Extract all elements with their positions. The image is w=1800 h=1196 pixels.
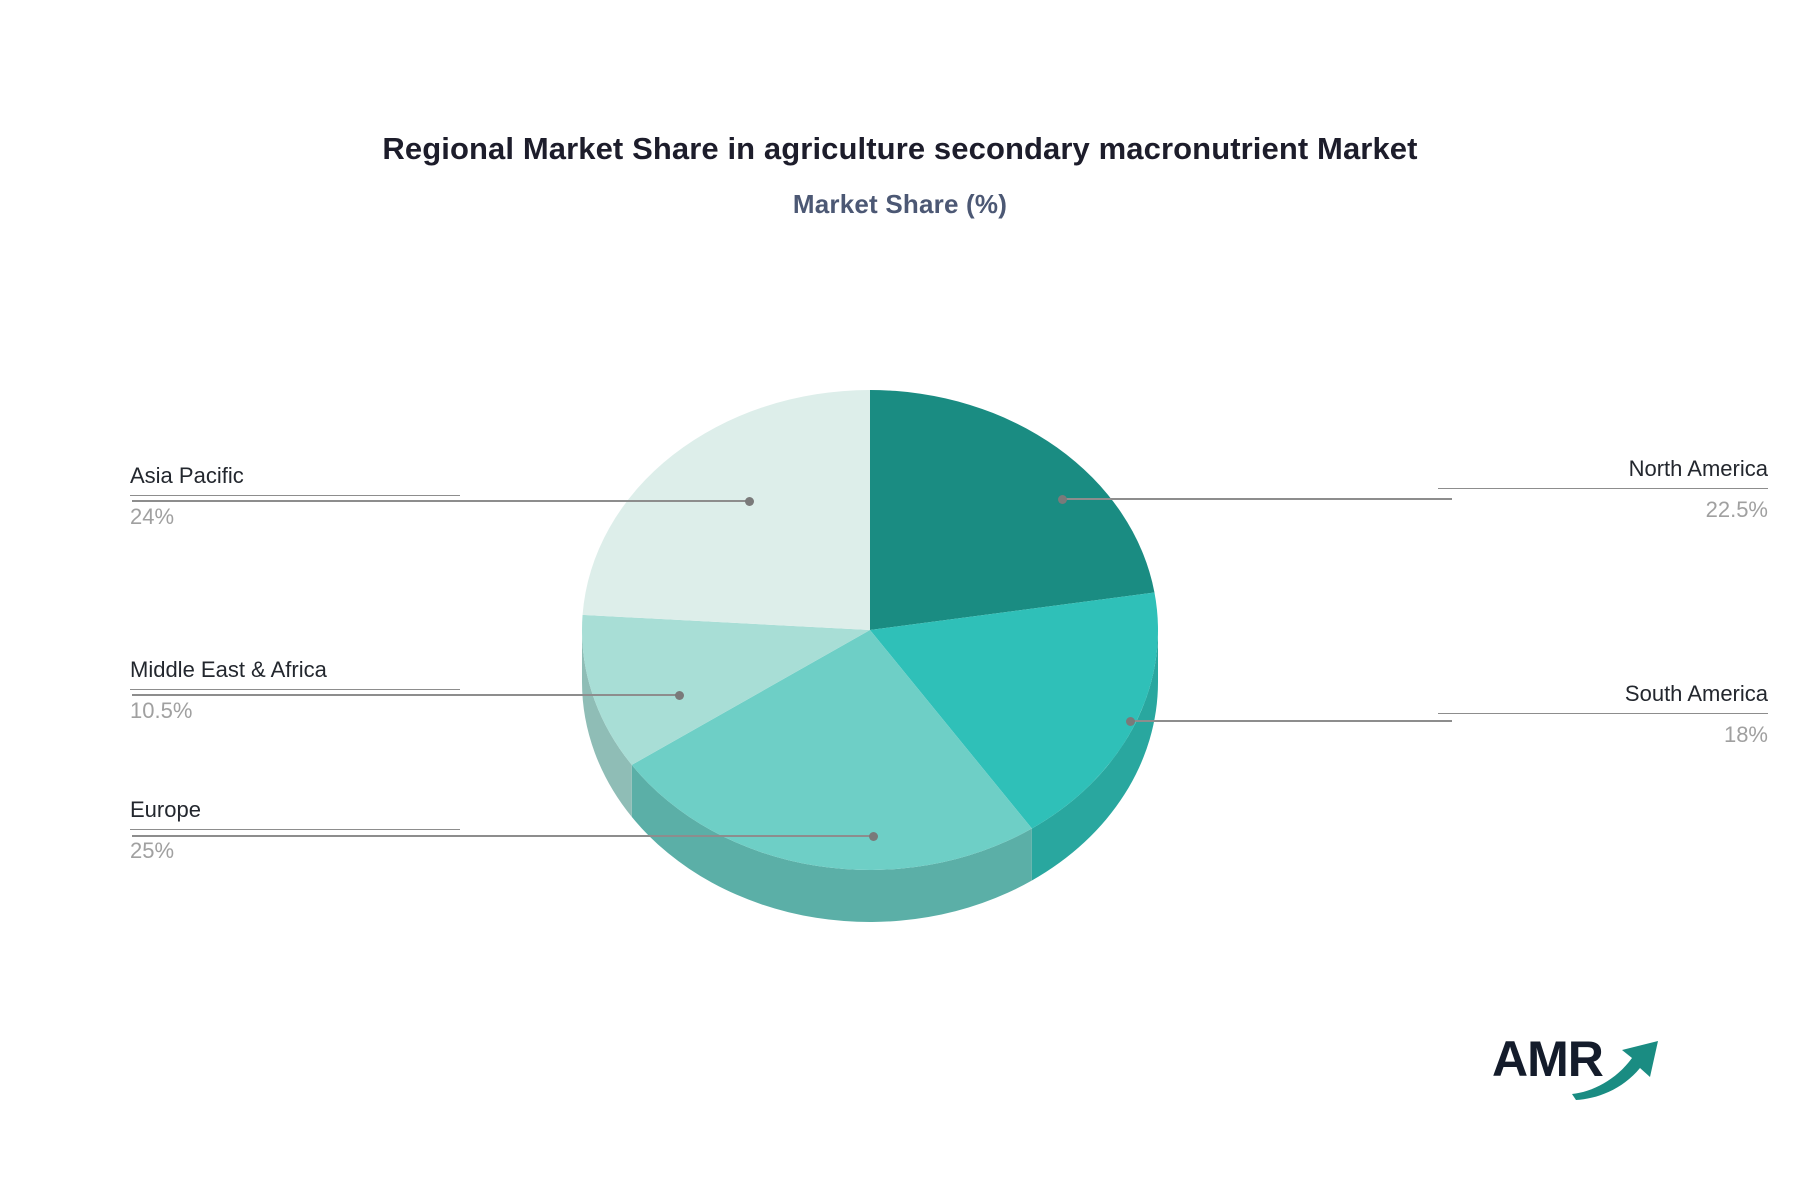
pie-slice-asia-pacific[interactable]: [583, 390, 870, 630]
chart-canvas: Regional Market Share in agriculture sec…: [0, 0, 1800, 1196]
leader-line-south-america: [1130, 720, 1452, 722]
callout-label-middle-east-africa: Middle East & Africa: [130, 656, 460, 689]
callout-value-north-america: 22.5%: [1438, 489, 1768, 525]
callout-north-america: North America 22.5%: [1438, 455, 1768, 524]
pie-slice-north-america[interactable]: [870, 390, 1154, 630]
leader-dot-europe: [869, 832, 878, 841]
callout-value-middle-east-africa: 10.5%: [130, 690, 460, 726]
amr-logo: AMR: [1492, 1032, 1672, 1112]
callout-value-asia-pacific: 24%: [130, 496, 460, 532]
callout-label-south-america: South America: [1438, 680, 1768, 713]
callout-middle-east-africa: Middle East & Africa 10.5%: [130, 656, 460, 725]
callout-value-europe: 25%: [130, 830, 460, 866]
callout-value-south-america: 18%: [1438, 714, 1768, 750]
callout-asia-pacific: Asia Pacific 24%: [130, 462, 460, 531]
amr-arrow-icon: [1570, 1036, 1670, 1102]
callout-label-north-america: North America: [1438, 455, 1768, 488]
callout-label-asia-pacific: Asia Pacific: [130, 462, 460, 495]
leader-dot-middle-east-africa: [675, 691, 684, 700]
pie-svg: [540, 330, 1260, 990]
leader-dot-asia-pacific: [745, 497, 754, 506]
leader-dot-south-america: [1126, 717, 1135, 726]
callout-europe: Europe 25%: [130, 796, 460, 865]
leader-line-north-america: [1062, 498, 1452, 500]
callout-label-europe: Europe: [130, 796, 460, 829]
callout-south-america: South America 18%: [1438, 680, 1768, 749]
pie-chart: [0, 0, 1800, 1196]
leader-dot-north-america: [1058, 495, 1067, 504]
